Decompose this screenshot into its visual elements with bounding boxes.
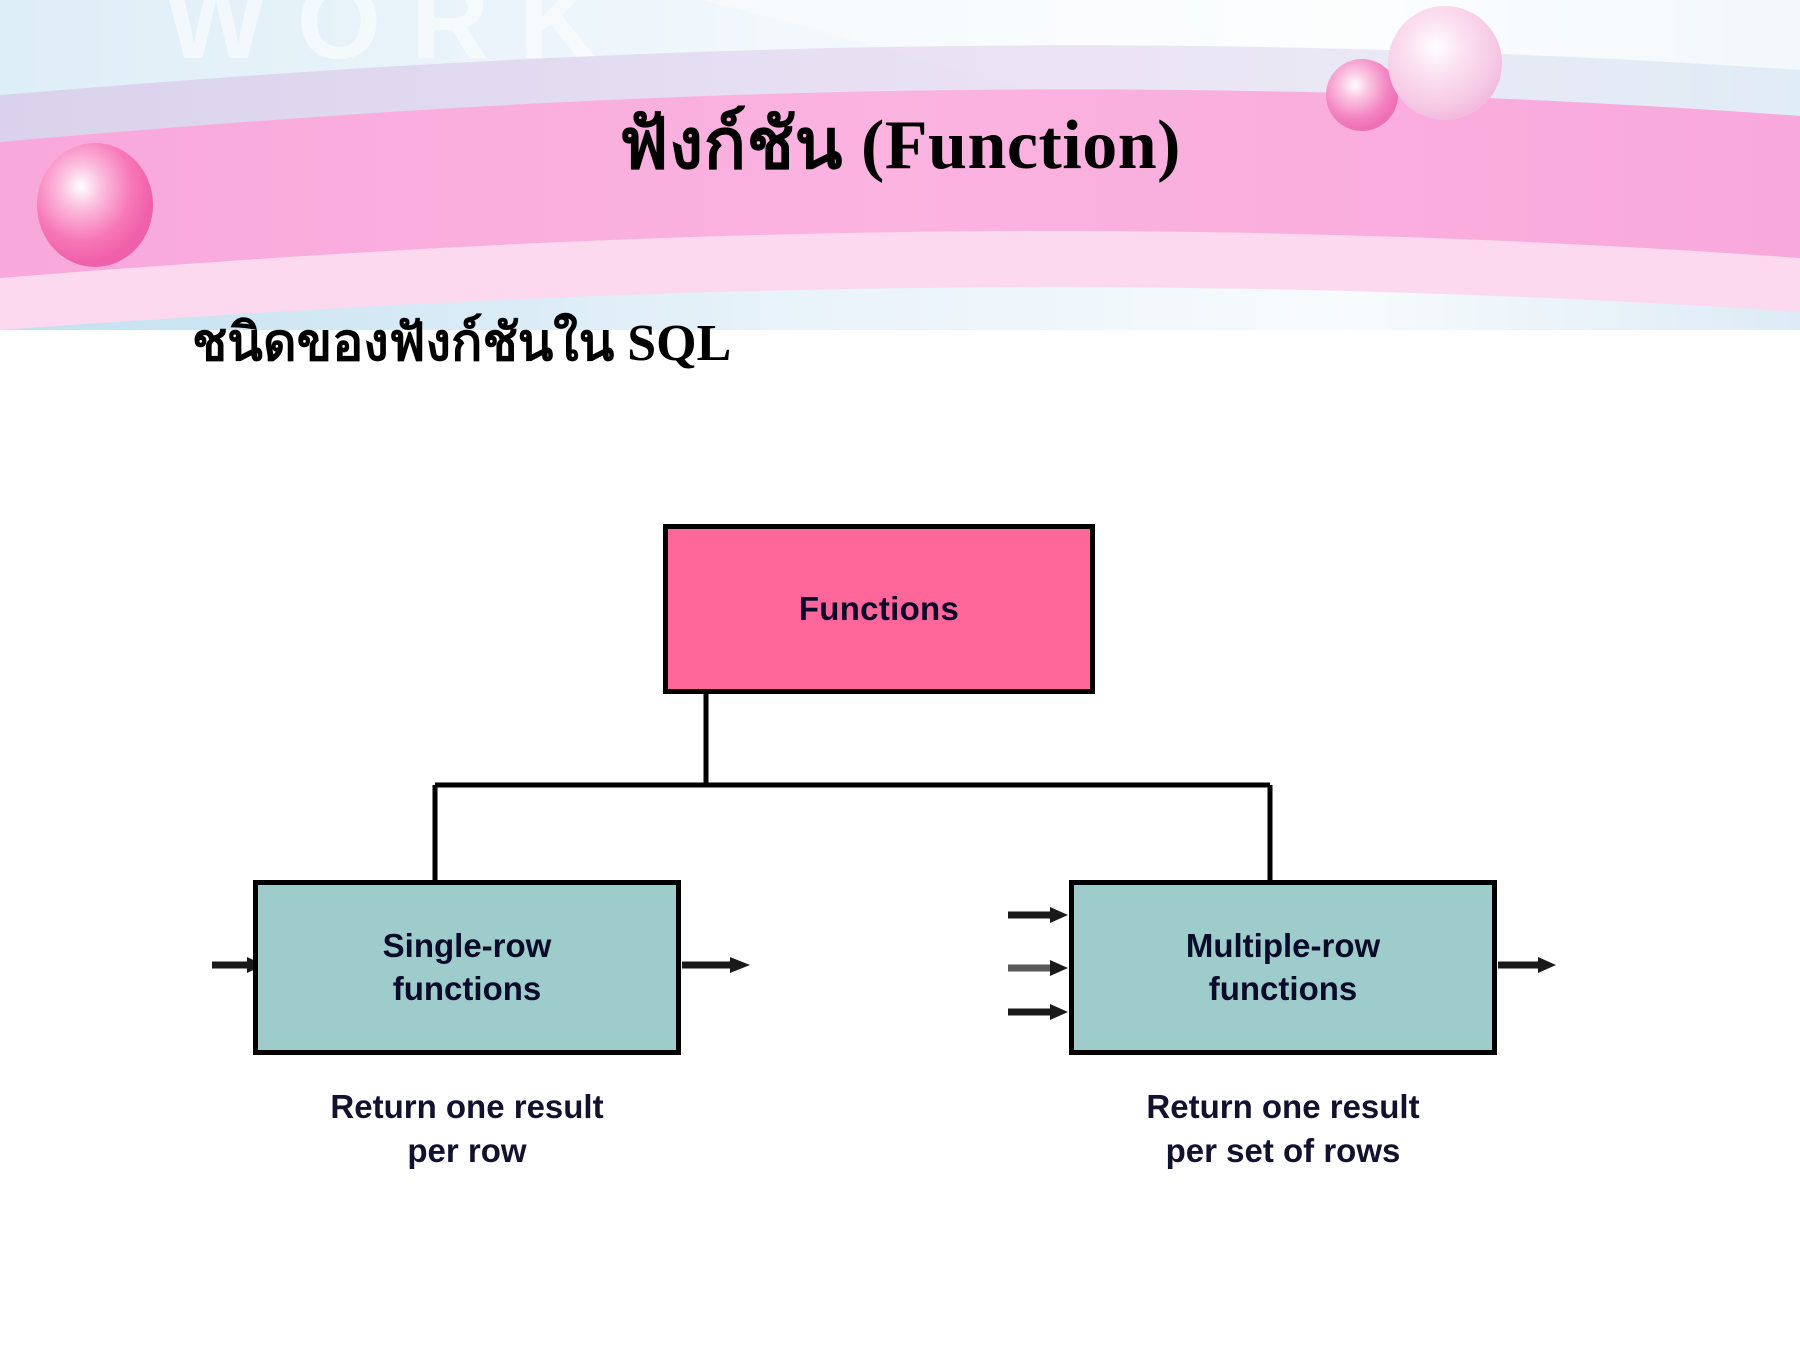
node-single-row-label-line2: functions [383, 968, 552, 1010]
node-multiple-row-label-line1: Multiple-row [1186, 925, 1380, 967]
node-single-row-functions[interactable]: Single-row functions [253, 880, 681, 1055]
slide-subtitle: ชนิดของฟังก์ชันใน SQL [192, 300, 731, 383]
node-multiple-row-label-line2: functions [1186, 968, 1380, 1010]
arrow-right-icon [1008, 960, 1068, 976]
caption-multiple-row: Return one result per set of rows [1023, 1085, 1543, 1172]
arrow-right-icon [1008, 1004, 1068, 1020]
caption-single-row-line1: Return one result [217, 1085, 717, 1129]
arrow-right-icon [1008, 907, 1068, 923]
slide-canvas: W O R K ความรู้ ฟังก์ชัน (Function) ช [0, 0, 1800, 1350]
functions-hierarchy-diagram: Functions Single-row functions Multiple-… [0, 0, 1800, 1350]
node-single-row-label-line1: Single-row [383, 925, 552, 967]
caption-single-row: Return one result per row [217, 1085, 717, 1172]
arrow-right-icon [1498, 957, 1556, 973]
node-functions-label: Functions [799, 590, 959, 628]
node-functions[interactable]: Functions [663, 524, 1095, 694]
arrow-right-icon [682, 957, 750, 973]
caption-multiple-row-line1: Return one result [1023, 1085, 1543, 1129]
caption-multiple-row-line2: per set of rows [1023, 1129, 1543, 1173]
node-multiple-row-functions[interactable]: Multiple-row functions [1069, 880, 1497, 1055]
caption-single-row-line2: per row [217, 1129, 717, 1173]
page-title: ฟังก์ชัน (Function) [0, 108, 1800, 184]
